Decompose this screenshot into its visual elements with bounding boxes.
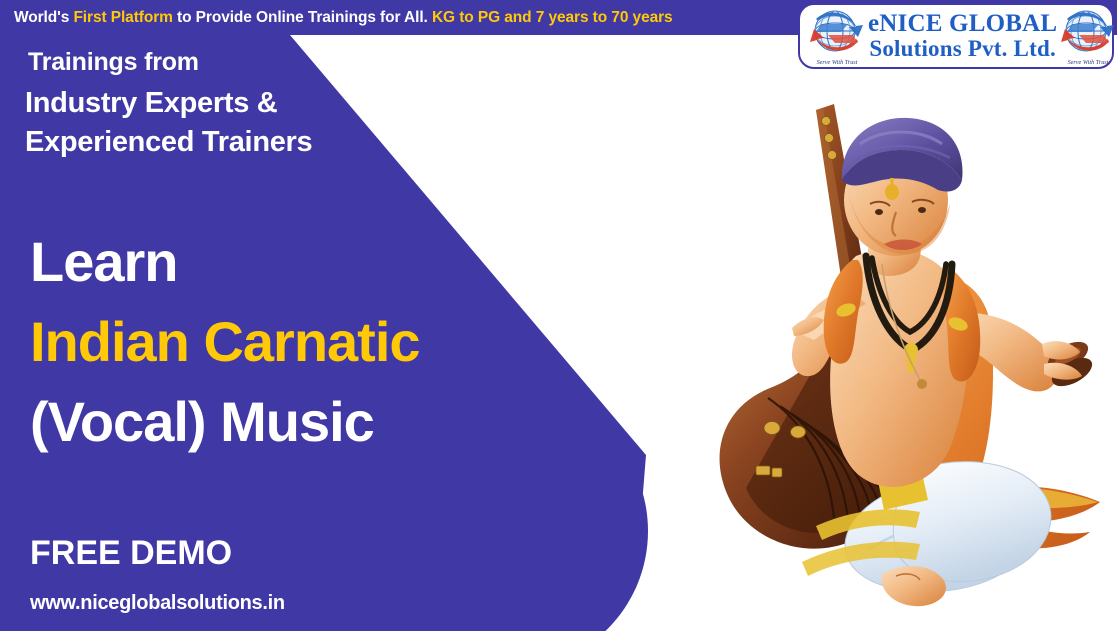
top-strip-tagline: World's First Platform to Provide Online…: [14, 5, 804, 31]
main-headline: Learn Indian Carnatic (Vocal) Music: [30, 222, 420, 462]
logo-wordmark: eNICE GLOBAL Solutions Pvt. Ltd.: [866, 11, 1059, 61]
top-strip-part-1: World's: [14, 9, 73, 26]
company-logo[interactable]: Serve With Trust eNICE GLOBAL Solutions …: [798, 3, 1114, 69]
subheadline: Industry Experts & Experienced Trainers: [25, 84, 312, 162]
top-strip-part-2: First Platform: [73, 9, 172, 26]
logo-tagline-right: Serve With Trust: [1061, 59, 1116, 66]
logo-name-line2: Solutions Pvt. Ltd.: [868, 37, 1057, 61]
top-strip-part-4: KG to PG and 7 years to 70 years: [432, 9, 673, 26]
headline-line2: Indian Carnatic: [30, 302, 420, 382]
promotional-banner: World's First Platform to Provide Online…: [0, 0, 1117, 631]
top-strip-part-3: to Provide Online Trainings for All.: [173, 9, 432, 26]
headline-line3: (Vocal) Music: [30, 382, 420, 462]
kicker-text: Trainings from: [28, 48, 199, 77]
musician-illustration: [620, 88, 1117, 631]
logo-name-line1: eNICE GLOBAL: [868, 11, 1057, 37]
website-url[interactable]: www.niceglobalsolutions.in: [30, 592, 285, 615]
globe-arrow-icon: Serve With Trust: [808, 7, 866, 65]
free-demo-label[interactable]: FREE DEMO: [30, 534, 232, 573]
subheadline-line2: Experienced Trainers: [25, 123, 312, 162]
subheadline-line1: Industry Experts &: [25, 84, 312, 123]
headline-line1: Learn: [30, 222, 420, 302]
logo-tagline-left: Serve With Trust: [809, 59, 864, 66]
globe-arrow-icon: Serve With Trust: [1059, 7, 1117, 65]
